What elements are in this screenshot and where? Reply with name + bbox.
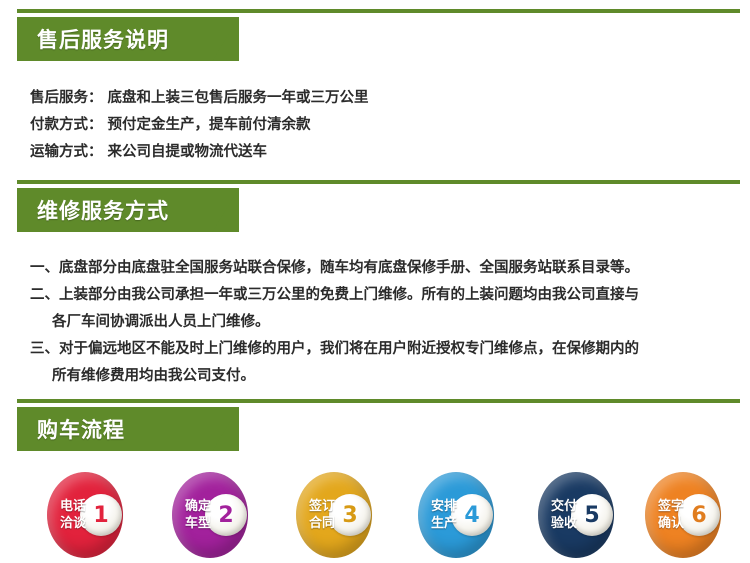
process-step-5[interactable]: 交付 验收 5 bbox=[538, 472, 614, 558]
divider-maintenance bbox=[17, 180, 740, 184]
body-line: 三、对于偏远地区不能及时上门维修的用户，我们将在用户附近授权专门维修点，在保修期… bbox=[30, 336, 639, 363]
body-line: 运输方式： 来公司自提或物流代送车 bbox=[30, 139, 369, 166]
process-step-2[interactable]: 确定 车型 2 bbox=[172, 472, 248, 558]
step-label: 签订 合同 bbox=[305, 498, 339, 532]
step-label-line1: 电话 bbox=[56, 498, 90, 515]
process-step-1[interactable]: 电话 洽谈 1 bbox=[47, 472, 123, 558]
step-label-line1: 确定 bbox=[181, 498, 215, 515]
body-line: 付款方式： 预付定金生产，提车前付清余款 bbox=[30, 112, 369, 139]
body-line: 各厂车间协调派出人员上门维修。 bbox=[30, 309, 639, 336]
step-label: 确定 车型 bbox=[181, 498, 215, 532]
step-label: 安排 生产 bbox=[427, 498, 461, 532]
step-label-line2: 车型 bbox=[181, 515, 215, 532]
body-line: 一、底盘部分由底盘驻全国服务站联合保修，随车均有底盘保修手册、全国服务站联系目录… bbox=[30, 255, 639, 282]
section-banner-after-sales: 售后服务说明 bbox=[17, 17, 239, 61]
step-label-line2: 合同 bbox=[305, 515, 339, 532]
step-label-line2: 确认 bbox=[654, 515, 688, 532]
section-body-maintenance: 一、底盘部分由底盘驻全国服务站联合保修，随车均有底盘保修手册、全国服务站联系目录… bbox=[30, 255, 639, 390]
body-line: 售后服务： 底盘和上装三包售后服务一年或三万公里 bbox=[30, 85, 369, 112]
divider-top bbox=[17, 9, 740, 13]
step-label-line1: 安排 bbox=[427, 498, 461, 515]
step-label-line1: 签字 bbox=[654, 498, 688, 515]
section-title-after-sales: 售后服务说明 bbox=[37, 24, 169, 54]
step-label-line2: 洽谈 bbox=[56, 515, 90, 532]
step-label: 电话 洽谈 bbox=[56, 498, 90, 532]
section-title-maintenance: 维修服务方式 bbox=[37, 195, 169, 225]
step-label-line1: 交付 bbox=[547, 498, 581, 515]
body-line: 二、上装部分由我公司承担一年或三万公里的免费上门维修。所有的上装问题均由我公司直… bbox=[30, 282, 639, 309]
section-banner-process: 购车流程 bbox=[17, 407, 239, 451]
step-label-line2: 生产 bbox=[427, 515, 461, 532]
divider-process bbox=[17, 399, 740, 403]
step-label: 交付 验收 bbox=[547, 498, 581, 532]
body-line: 所有维修费用均由我公司支付。 bbox=[30, 363, 639, 390]
section-title-process: 购车流程 bbox=[37, 414, 125, 444]
step-label: 签字 确认 bbox=[654, 498, 688, 532]
page-root: 售后服务说明 售后服务： 底盘和上装三包售后服务一年或三万公里 付款方式： 预付… bbox=[0, 0, 750, 563]
section-banner-maintenance: 维修服务方式 bbox=[17, 188, 239, 232]
process-steps: 电话 洽谈 1 确定 车型 2 签订 合同 3 安排 生产 bbox=[0, 470, 750, 563]
section-body-after-sales: 售后服务： 底盘和上装三包售后服务一年或三万公里 付款方式： 预付定金生产，提车… bbox=[30, 85, 369, 166]
step-label-line1: 签订 bbox=[305, 498, 339, 515]
process-step-6[interactable]: 签字 确认 6 bbox=[645, 472, 721, 558]
step-label-line2: 验收 bbox=[547, 515, 581, 532]
process-step-4[interactable]: 安排 生产 4 bbox=[418, 472, 494, 558]
process-step-3[interactable]: 签订 合同 3 bbox=[296, 472, 372, 558]
